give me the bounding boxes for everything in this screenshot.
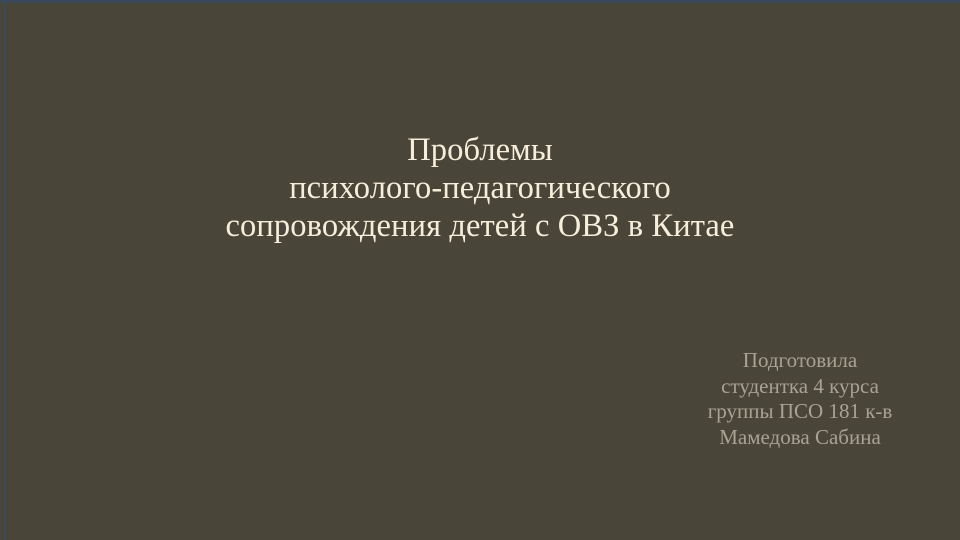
slide-subtitle: Подготовила студентка 4 курса группы ПСО… [648, 348, 952, 450]
presentation-slide: Проблемы психолого-педагогического сопро… [0, 0, 960, 540]
subtitle-line-1: Подготовила [648, 348, 952, 374]
slide-title: Проблемы психолого-педагогического сопро… [0, 131, 956, 245]
subtitle-line-4: Мамедова Сабина [648, 425, 952, 451]
subtitle-line-3: группы ПСО 181 к-в [648, 399, 952, 425]
title-line-1: Проблемы [4, 131, 956, 169]
title-line-2: психолого-педагогического [4, 169, 956, 207]
top-accent-rule [0, 0, 960, 3]
left-accent-rule [4, 0, 6, 540]
title-line-3: сопровождения детей с ОВЗ в Китае [4, 207, 956, 245]
subtitle-line-2: студентка 4 курса [648, 374, 952, 400]
